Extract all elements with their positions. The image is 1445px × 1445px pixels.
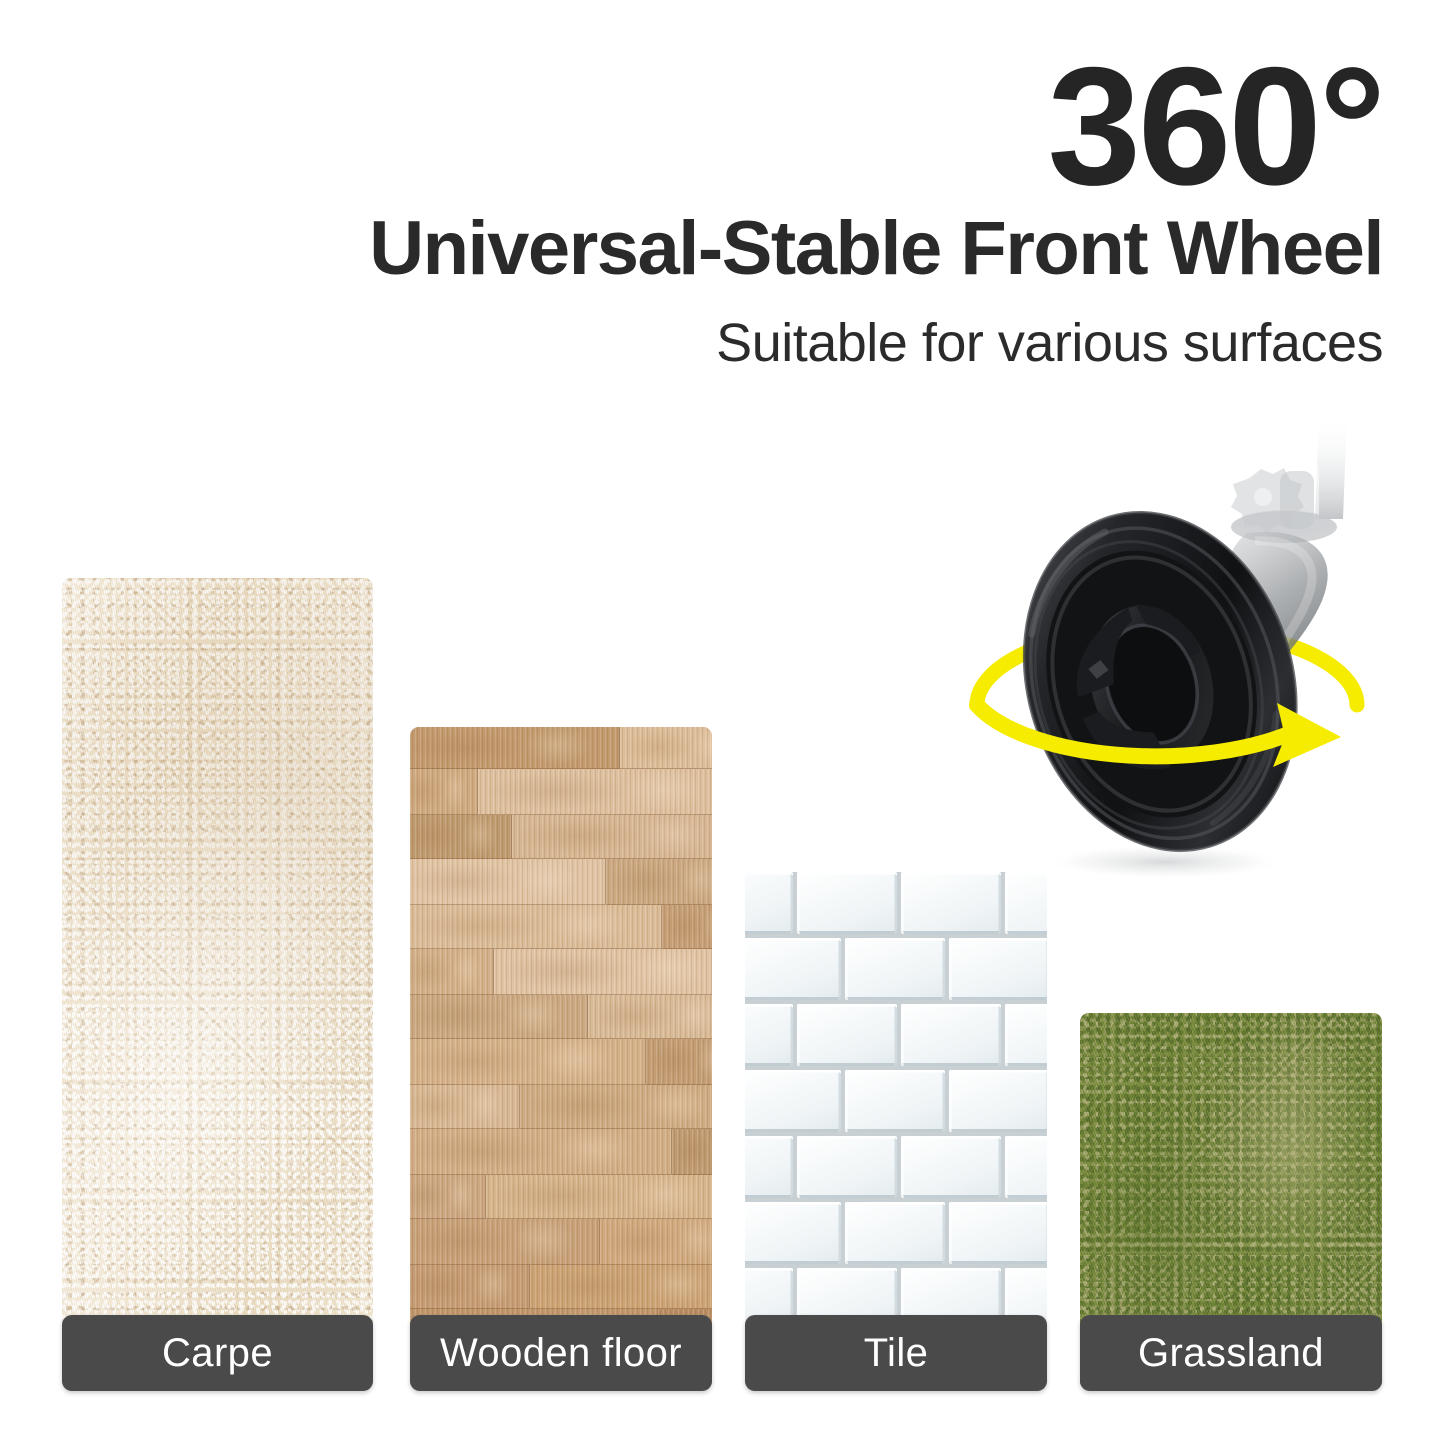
surface-label-text: Wooden floor xyxy=(440,1331,682,1376)
surface-label-carpet: Carpe xyxy=(62,1315,373,1391)
wheel-illustration xyxy=(955,415,1395,885)
badge-360-degrees: 360° xyxy=(183,44,1383,209)
page-title: Universal-Stable Front Wheel xyxy=(183,209,1383,290)
carpet-texture xyxy=(62,578,373,1390)
page-subtitle: Suitable for various surfaces xyxy=(183,289,1383,376)
wood-texture xyxy=(410,727,712,1390)
surface-label-text: Grassland xyxy=(1138,1331,1324,1376)
surface-label-tile: Tile xyxy=(745,1315,1047,1391)
surface-column-carpet xyxy=(62,578,373,1390)
surface-label-grassland: Grassland xyxy=(1080,1315,1382,1391)
surface-label-wooden-floor: Wooden floor xyxy=(410,1315,712,1391)
headline-block: 360° Universal-Stable Front Wheel Suitab… xyxy=(183,44,1383,376)
marketing-graphic-canvas: 360° Universal-Stable Front Wheel Suitab… xyxy=(0,0,1445,1445)
surface-column-wooden-floor xyxy=(410,727,712,1390)
surface-label-text: Carpe xyxy=(162,1331,273,1376)
tile-texture xyxy=(745,872,1047,1390)
front-wheel-product-figure xyxy=(955,415,1395,885)
surface-column-tile xyxy=(745,872,1047,1390)
surface-label-text: Tile xyxy=(864,1331,929,1376)
